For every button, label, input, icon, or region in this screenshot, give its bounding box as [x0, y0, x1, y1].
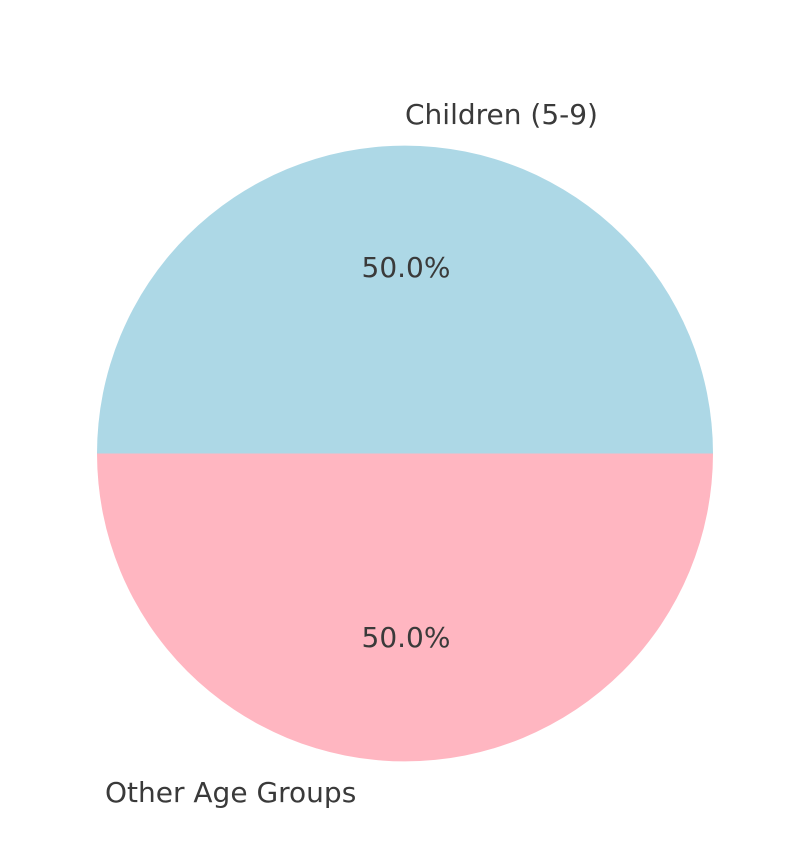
pie-slice-label-children: Children (5-9): [405, 98, 598, 132]
pie-chart-figure: Age Group at Risk for Dog Bites Children…: [0, 0, 810, 860]
pie-slice-label-other-age-groups: Other Age Groups: [105, 776, 356, 810]
pie-percent-label-other-age-groups: 50.0%: [362, 621, 451, 655]
pie-percent-label-children: 50.0%: [362, 251, 451, 285]
